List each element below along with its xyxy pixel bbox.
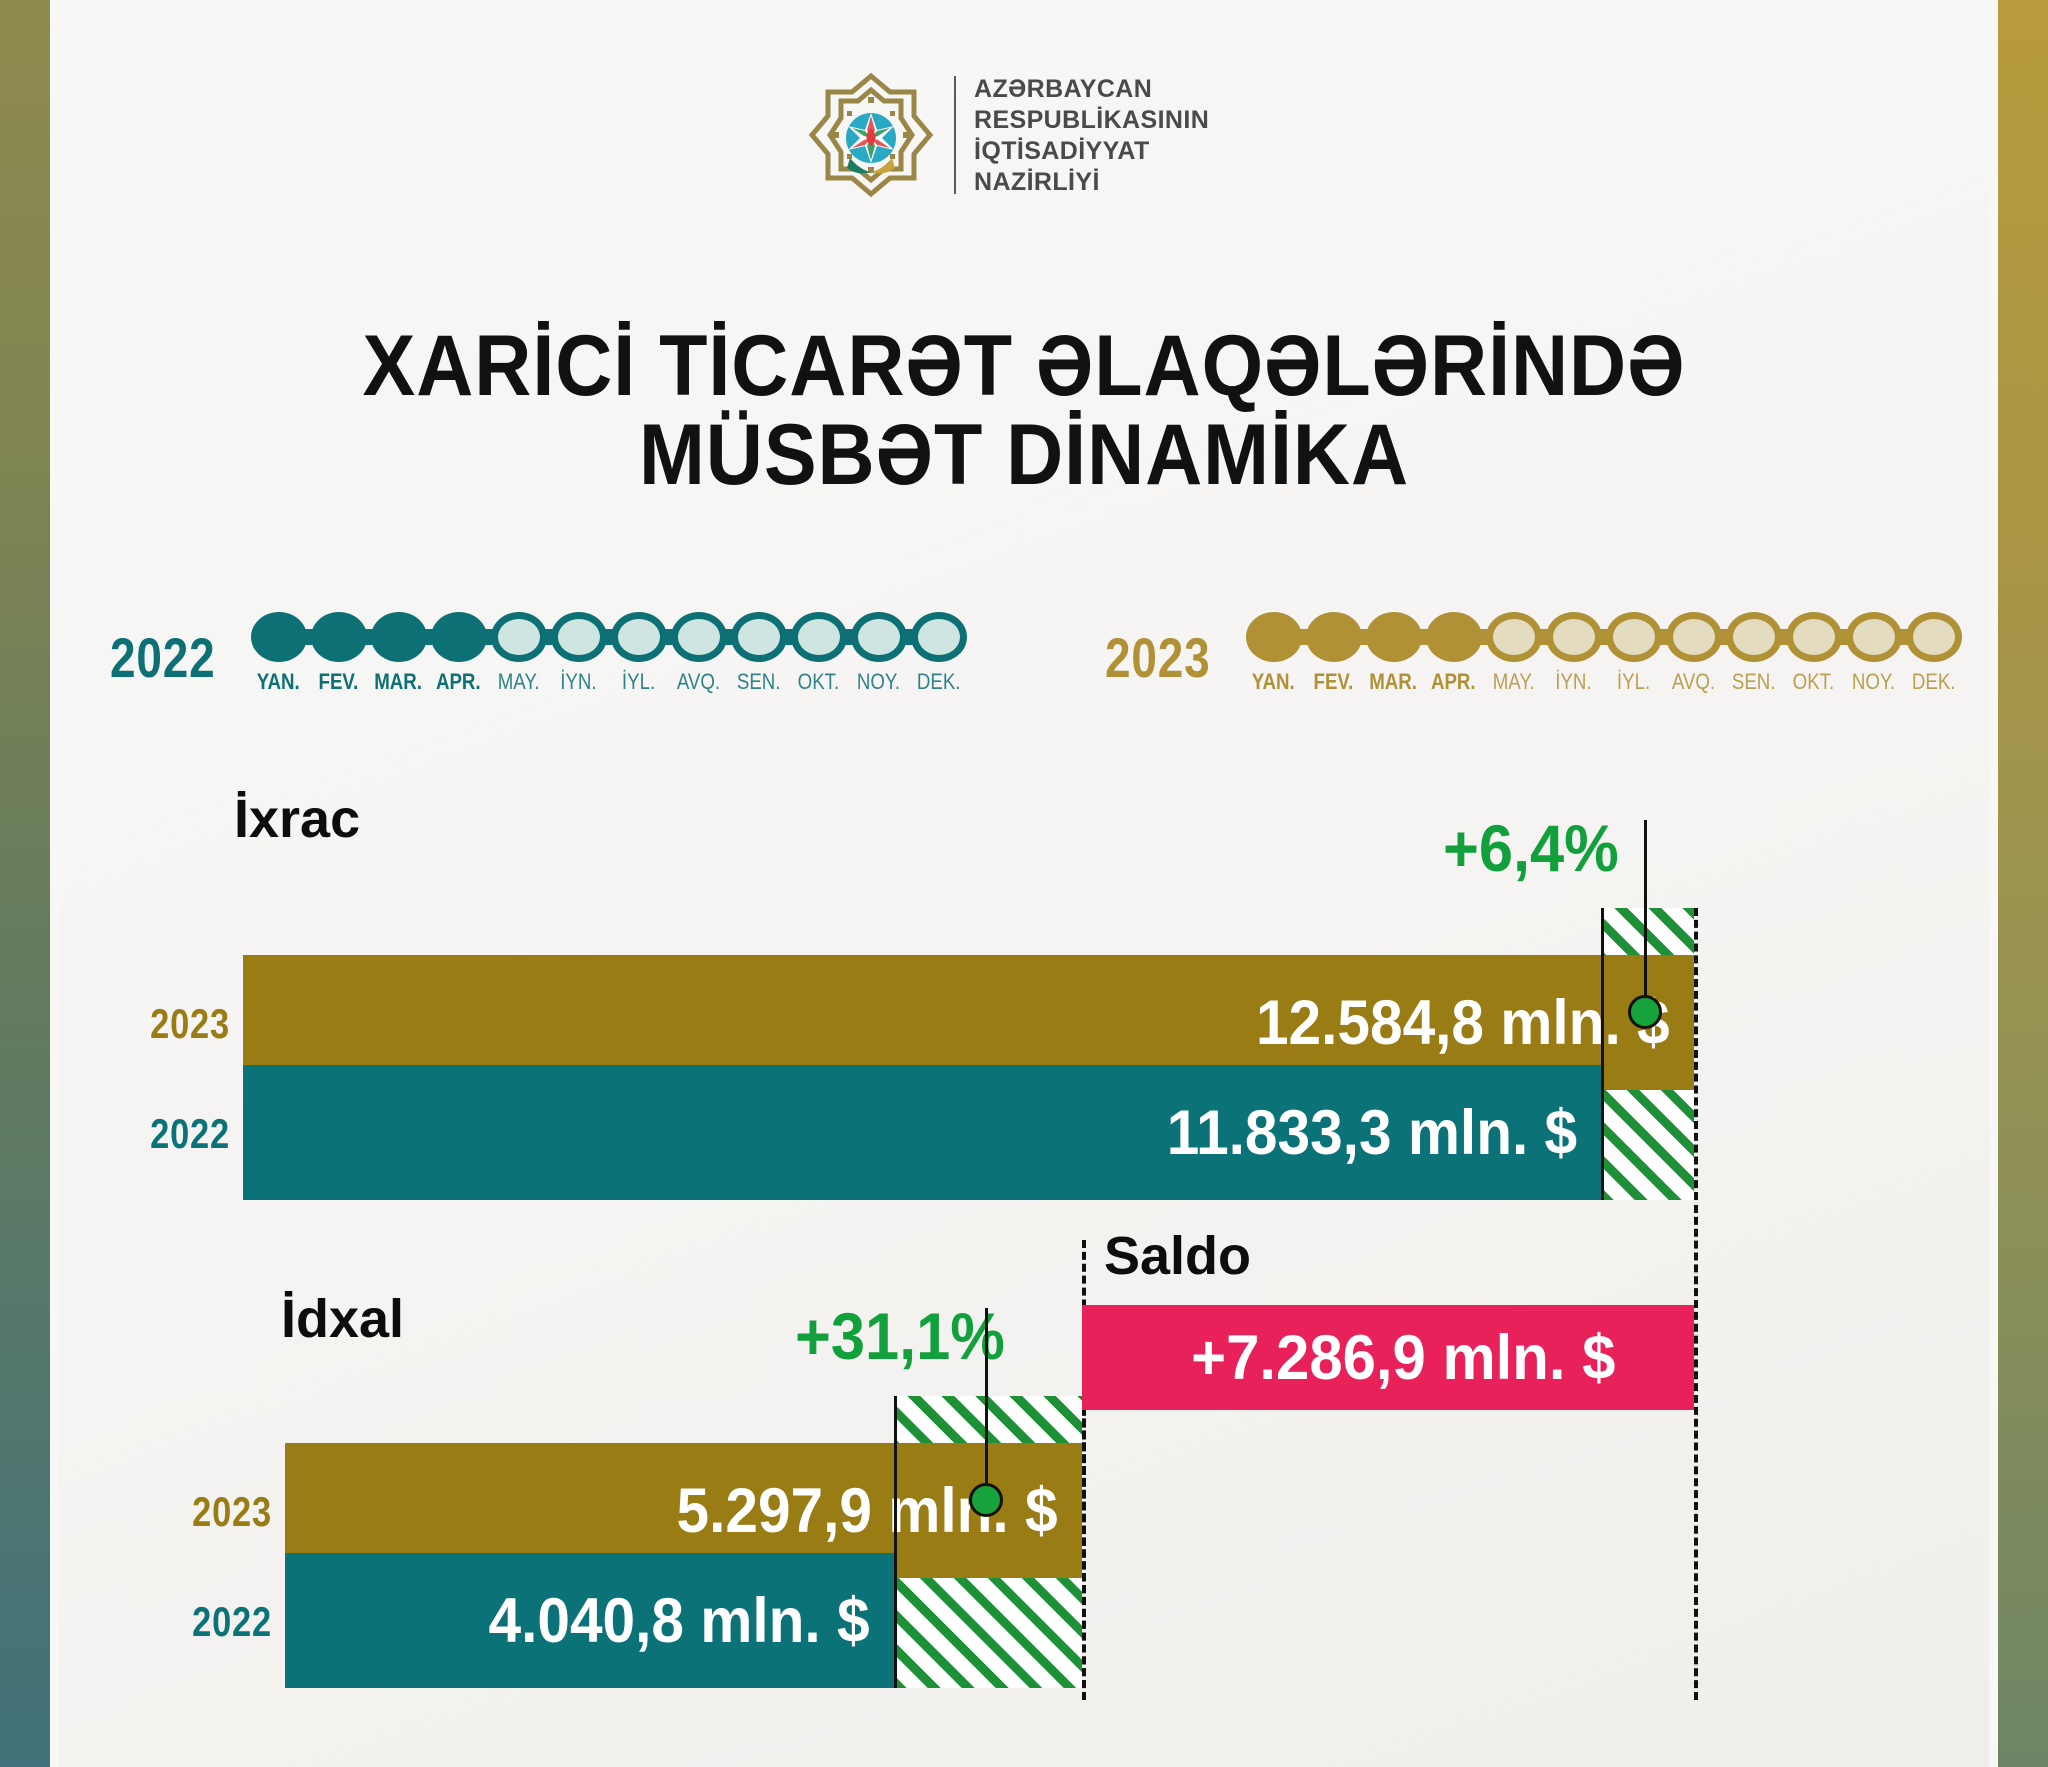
legend-month-label: APR. <box>436 669 481 695</box>
legend-month-label: MAR. <box>375 669 423 695</box>
export-growth-marker <box>1628 995 1662 1029</box>
legend-2023: 2023 YAN.FEV.MAR.APR.MAY.İYN.İYL.AVQ.SEN… <box>1105 612 1964 695</box>
legend-dot-hollow-icon <box>1606 612 1662 662</box>
left-border-gap <box>50 0 59 1767</box>
legend-dot-hollow-icon <box>1726 612 1782 662</box>
legend-month-label: SEN. <box>1732 669 1776 695</box>
legend-month-fev[interactable]: FEV. <box>309 612 369 695</box>
legend-month-label: YAN. <box>257 669 300 695</box>
legend-2023-year: 2023 <box>1105 630 1210 686</box>
export-bar-2022: 11.833,3 mln. $ <box>243 1065 1601 1200</box>
legend-month-label: OKT. <box>798 669 840 695</box>
legend-dot-hollow-icon <box>1786 612 1842 662</box>
legend-month-label: AVQ. <box>677 669 720 695</box>
balance-section-label: Saldo <box>1104 1225 1251 1287</box>
logo-divider <box>954 76 956 194</box>
legend-month-label: MAR. <box>1370 669 1418 695</box>
right-gradient-border <box>1998 0 2048 1767</box>
legend-month-label: DEK. <box>917 669 961 695</box>
legend-2022: 2022 YAN.FEV.MAR.APR.MAY.İYN.İYL.AVQ.SEN… <box>110 612 969 695</box>
legend-month-label: NOY. <box>857 669 900 695</box>
export-growth-percent: +6,4% <box>1443 810 1619 886</box>
legend-month-label: MAY. <box>498 669 540 695</box>
import-growth-marker <box>969 1483 1003 1517</box>
legend-dot-hollow-icon <box>611 612 667 662</box>
legend-dot-filled-icon <box>1246 612 1302 662</box>
legend-dot-filled-icon <box>371 612 427 662</box>
export-section-label: İxrac <box>234 788 360 850</box>
import-section-label: İdxal <box>281 1288 404 1350</box>
legend-month-dek[interactable]: DEK. <box>1904 612 1964 695</box>
import-bar-2022: 4.040,8 mln. $ <box>285 1553 894 1688</box>
legend-month-apr[interactable]: APR. <box>1424 612 1484 695</box>
legend-month-mar[interactable]: MAR. <box>369 612 429 695</box>
legend-month-i̇yl[interactable]: İYL. <box>609 612 669 695</box>
legend-month-sen[interactable]: SEN. <box>729 612 789 695</box>
legend-dot-hollow-icon <box>1546 612 1602 662</box>
export-year-tag-2022: 2022 <box>140 1110 230 1158</box>
import-hatch-left-edge <box>894 1396 897 1688</box>
legend-month-label: İYN. <box>560 669 596 695</box>
balance-value: +7.286,9 mln. $ <box>1113 1322 1694 1394</box>
import-year-tag-2022: 2022 <box>182 1598 272 1646</box>
ministry-name: AZƏRBAYCAN RESPUBLİKASININ İQTİSADİYYAT … <box>974 75 1209 196</box>
export-hatch-right-edge <box>1694 908 1698 1200</box>
import-year-tag-2023: 2023 <box>182 1488 272 1536</box>
import-growth-percent: +31,1% <box>795 1298 1005 1374</box>
legend-month-apr[interactable]: APR. <box>429 612 489 695</box>
legend-month-fev[interactable]: FEV. <box>1304 612 1364 695</box>
legend-dot-hollow-icon <box>1906 612 1962 662</box>
legend-dot-hollow-icon <box>1666 612 1722 662</box>
logo-line-1: AZƏRBAYCAN <box>974 75 1209 103</box>
legend-month-label: APR. <box>1431 669 1476 695</box>
azerbaijan-coat-of-arms-icon <box>806 70 936 200</box>
legend-month-avq[interactable]: AVQ. <box>1664 612 1724 695</box>
legend-dot-hollow-icon <box>851 612 907 662</box>
legend-dot-hollow-icon <box>791 612 847 662</box>
legend-month-label: İYL. <box>622 669 655 695</box>
import-growth-leader-line <box>985 1308 988 1493</box>
legend-dot-filled-icon <box>1366 612 1422 662</box>
left-gradient-border <box>0 0 50 1767</box>
export-year-tag-2023: 2023 <box>140 1000 230 1048</box>
legend-month-label: OKT. <box>1793 669 1835 695</box>
legend-dot-filled-icon <box>431 612 487 662</box>
legend-month-i̇yn[interactable]: İYN. <box>549 612 609 695</box>
ministry-logo: AZƏRBAYCAN RESPUBLİKASININ İQTİSADİYYAT … <box>806 70 1209 200</box>
legend-dot-hollow-icon <box>491 612 547 662</box>
logo-line-2: RESPUBLİKASININ <box>974 106 1209 134</box>
legend-month-label: FEV. <box>319 669 359 695</box>
legend-dot-filled-icon <box>1426 612 1482 662</box>
legend-month-label: İYL. <box>1617 669 1650 695</box>
legend-month-may[interactable]: MAY. <box>489 612 549 695</box>
export-growth-leader-line <box>1644 820 1647 1005</box>
page-title: XARİCİ TİCARƏT ƏLAQƏLƏRİNDƏ MÜSBƏT DİNAM… <box>82 322 1966 501</box>
legend-month-label: FEV. <box>1314 669 1354 695</box>
legend-month-label: İYN. <box>1555 669 1591 695</box>
legend-month-yan[interactable]: YAN. <box>249 612 309 695</box>
balance-bar: +7.286,9 mln. $ <box>1082 1305 1694 1410</box>
export-value-2022: 11.833,3 mln. $ <box>1166 1097 1601 1169</box>
legend-month-yan[interactable]: YAN. <box>1244 612 1304 695</box>
legend-month-i̇yl[interactable]: İYL. <box>1604 612 1664 695</box>
legend-month-label: YAN. <box>1252 669 1295 695</box>
legend-month-noy[interactable]: NOY. <box>1844 612 1904 695</box>
legend-dot-hollow-icon <box>1486 612 1542 662</box>
legend-month-label: MAY. <box>1493 669 1535 695</box>
legend-dot-filled-icon <box>1306 612 1362 662</box>
legend-month-dek[interactable]: DEK. <box>909 612 969 695</box>
title-line-1: XARİCİ TİCARƏT ƏLAQƏLƏRİNDƏ <box>363 318 1686 414</box>
export-value-2023: 12.584,8 mln. $ <box>1256 987 1694 1059</box>
legend-month-sen[interactable]: SEN. <box>1724 612 1784 695</box>
balance-right-guide-line <box>1694 1205 1698 1700</box>
logo-line-4: NAZİRLİYİ <box>974 168 1209 196</box>
legend-month-label: DEK. <box>1912 669 1956 695</box>
legend-month-avq[interactable]: AVQ. <box>669 612 729 695</box>
legend-month-label: AVQ. <box>1672 669 1715 695</box>
legend-month-i̇yn[interactable]: İYN. <box>1544 612 1604 695</box>
legend-dot-filled-icon <box>311 612 367 662</box>
legend-2022-months: YAN.FEV.MAR.APR.MAY.İYN.İYL.AVQ.SEN.OKT.… <box>249 612 969 695</box>
import-value-2023: 5.297,9 mln. $ <box>677 1475 1082 1547</box>
infographic-canvas: AZƏRBAYCAN RESPUBLİKASININ İQTİSADİYYAT … <box>0 0 2048 1767</box>
legend-dot-hollow-icon <box>731 612 787 662</box>
legend-month-label: NOY. <box>1852 669 1895 695</box>
import-value-2022: 4.040,8 mln. $ <box>489 1585 894 1657</box>
logo-line-3: İQTİSADİYYAT <box>974 137 1209 165</box>
legend-dot-hollow-icon <box>1846 612 1902 662</box>
legend-dot-hollow-icon <box>671 612 727 662</box>
legend-month-okt[interactable]: OKT. <box>1784 612 1844 695</box>
legend-dot-hollow-icon <box>911 612 967 662</box>
legend-2023-months: YAN.FEV.MAR.APR.MAY.İYN.İYL.AVQ.SEN.OKT.… <box>1244 612 1964 695</box>
legend-month-label: SEN. <box>737 669 781 695</box>
title-line-2: MÜSBƏT DİNAMİKA <box>82 411 1966 500</box>
legend-dot-hollow-icon <box>551 612 607 662</box>
right-border-gap <box>1989 0 1998 1767</box>
legend-month-noy[interactable]: NOY. <box>849 612 909 695</box>
legend-month-okt[interactable]: OKT. <box>789 612 849 695</box>
legend-dot-filled-icon <box>251 612 307 662</box>
legend-month-may[interactable]: MAY. <box>1484 612 1544 695</box>
legend-2022-year: 2022 <box>110 630 215 686</box>
export-hatch-left-edge <box>1601 908 1604 1200</box>
legend-month-mar[interactable]: MAR. <box>1364 612 1424 695</box>
